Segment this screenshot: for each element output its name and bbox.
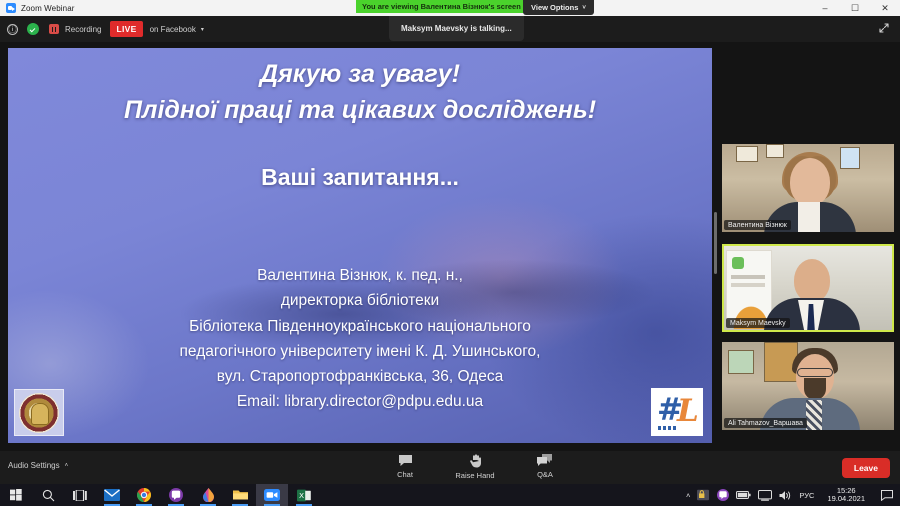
paint-3d-icon[interactable]	[192, 484, 224, 506]
university-crest-logo	[14, 389, 64, 436]
mail-icon[interactable]	[96, 484, 128, 506]
clock-date: 19.04.2021	[827, 495, 865, 503]
active-speaker-status: Maksym Maevsky is talking...	[389, 16, 524, 41]
system-tray: ˄ РУС	[686, 484, 900, 506]
slide-title-line1: Дякую за увагу!	[8, 57, 712, 93]
qa-button[interactable]: Q&A	[521, 454, 569, 480]
recording-pause-icon[interactable]	[49, 24, 59, 34]
security-tray-icon[interactable]	[697, 489, 710, 501]
live-badge: LIVE	[110, 21, 142, 37]
qa-label: Q&A	[537, 470, 553, 479]
search-icon[interactable]	[32, 484, 64, 506]
viber-tray-icon[interactable]	[717, 489, 729, 501]
window-title: Zoom Webinar	[21, 4, 75, 13]
slide-body-line: вул. Старопортофранківська, 36, Одеса	[8, 364, 712, 389]
meeting-bottom-toolbar: Audio Settings ˄ Chat Raise Hand	[0, 451, 900, 484]
maximize-icon[interactable]: ☐	[840, 0, 870, 16]
network-icon[interactable]	[758, 490, 772, 501]
hashtag-l-logo: # L	[651, 388, 703, 436]
volume-icon[interactable]	[779, 490, 792, 501]
action-center-icon[interactable]	[878, 484, 896, 506]
meeting-stage: Дякую за увагу! Плідної праці та цікавих…	[0, 42, 900, 451]
leave-button[interactable]: Leave	[842, 458, 890, 478]
view-options-button[interactable]: View Options ˅	[523, 0, 594, 15]
participant-name-label: Ali Tahmazov_Варшава	[724, 418, 807, 428]
slide-body-line: педагогічного університету імені К. Д. У…	[8, 339, 712, 364]
slide-title-line2: Плідної праці та цікавих досліджень!	[8, 93, 712, 129]
tray-chevron-icon[interactable]: ˄	[686, 491, 690, 500]
chat-button[interactable]: Chat	[381, 454, 429, 480]
zoom-icon[interactable]	[256, 484, 288, 506]
chevron-down-icon: ˅	[582, 5, 586, 11]
chevron-up-icon: ˄	[65, 463, 69, 469]
svg-text:X: X	[299, 491, 304, 500]
audio-settings-button[interactable]: Audio Settings ˄	[8, 461, 68, 470]
meeting-info-button[interactable]: ⓘ	[0, 24, 18, 35]
slide-body-line: Email: library.director@pdpu.edu.ua	[8, 389, 712, 414]
slide-body-line: Бібліотека Південноукраїнського націонал…	[8, 314, 712, 339]
chat-label: Chat	[397, 470, 413, 479]
slide-questions-heading: Ваші запитання...	[8, 164, 712, 191]
slide-title: Дякую за увагу! Плідної праці та цікавих…	[8, 48, 712, 128]
stream-target-label[interactable]: on Facebook	[150, 25, 196, 34]
window-controls: – ☐ ✕	[810, 0, 900, 16]
battery-icon[interactable]	[736, 490, 751, 500]
toolbar-actions: Chat Raise Hand Q&A	[381, 454, 569, 480]
excel-icon[interactable]: X	[288, 484, 320, 506]
zoom-webinar-window: Zoom Webinar – ☐ ✕ You are viewing Вален…	[0, 0, 900, 506]
info-icon: ⓘ	[7, 24, 18, 35]
slide-body-line: Валентина Візнюк, к. пед. н.,	[8, 263, 712, 288]
view-options-label: View Options	[531, 3, 578, 12]
windows-taskbar: X ˄	[0, 484, 900, 506]
hash-letter: L	[677, 396, 699, 427]
chevron-down-icon[interactable]: ▾	[201, 26, 204, 33]
minimize-icon[interactable]: –	[810, 0, 840, 16]
task-view-icon[interactable]	[64, 484, 96, 506]
raise-hand-button[interactable]: Raise Hand	[451, 454, 499, 480]
participant-thumbnail-strip: Валентина Візнюк Maksym Maevsky	[722, 104, 894, 440]
raise-hand-icon	[469, 454, 482, 468]
slide-body-line: директорка бібліотеки	[8, 288, 712, 313]
screen-share-banner: You are viewing Валентина Візнюк's scree…	[356, 0, 527, 13]
raise-hand-label: Raise Hand	[455, 471, 494, 480]
language-indicator[interactable]: РУС	[799, 491, 814, 500]
participant-thumbnail[interactable]: Валентина Візнюк	[722, 144, 894, 232]
taskbar-clock[interactable]: 15:26 19.04.2021	[821, 487, 871, 504]
participant-thumbnail-active-speaker[interactable]: Maksym Maevsky	[722, 244, 894, 332]
qa-icon	[537, 454, 553, 467]
recording-label: Recording	[65, 25, 101, 34]
viber-icon[interactable]	[160, 484, 192, 506]
encryption-shield-icon[interactable]	[27, 23, 39, 35]
participant-name-label: Maksym Maevsky	[726, 318, 790, 328]
expand-arrows-icon[interactable]	[876, 20, 892, 36]
shared-screen-slide: Дякую за увагу! Плідної праці та цікавих…	[8, 48, 712, 443]
panel-resize-handle[interactable]	[713, 212, 718, 274]
participant-thumbnail[interactable]: Ali Tahmazov_Варшава	[722, 342, 894, 430]
audio-settings-label: Audio Settings	[8, 461, 60, 470]
participant-name-label: Валентина Візнюк	[724, 220, 791, 230]
start-icon[interactable]	[0, 484, 32, 506]
slide-contact-block: Валентина Візнюк, к. пед. н., директорка…	[8, 263, 712, 415]
close-icon[interactable]: ✕	[870, 0, 900, 16]
zoom-video-icon	[6, 3, 16, 13]
file-explorer-icon[interactable]	[224, 484, 256, 506]
chrome-icon[interactable]	[128, 484, 160, 506]
chat-icon	[398, 454, 413, 467]
